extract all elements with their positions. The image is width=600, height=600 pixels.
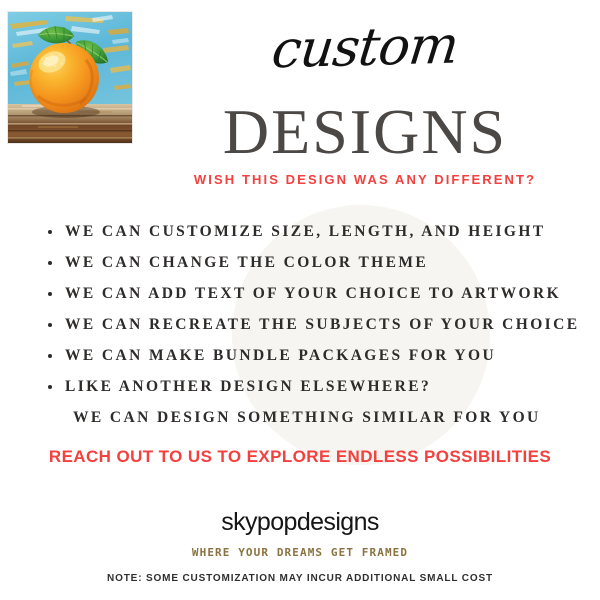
headline-question: WISH THIS DESIGN WAS ANY DIFFERENT?: [130, 173, 600, 186]
brand-name: skypopdesigns: [0, 510, 600, 535]
list-item: WE CAN CHANGE THE COLOR THEME: [46, 247, 576, 278]
list-item: LIKE ANOTHER DESIGN ELSEWHERE?: [46, 371, 576, 402]
artwork-thumbnail: [8, 12, 132, 143]
list-item: WE CAN MAKE BUNDLE PACKAGES FOR YOU: [46, 340, 576, 371]
list-item: WE CAN CUSTOMIZE SIZE, LENGTH, AND HEIGH…: [46, 216, 576, 247]
brand-tagline: WHERE YOUR DREAMS GET FRAMED: [0, 547, 600, 558]
list-item: WE CAN ADD TEXT OF YOUR CHOICE TO ARTWOR…: [46, 278, 576, 309]
orange-painting-icon: [8, 12, 132, 143]
script-headline: custom: [126, 16, 600, 80]
list-item: WE CAN RECREATE THE SUBJECTS OF YOUR CHO…: [46, 309, 576, 340]
call-to-action-text: REACH OUT TO US TO EXPLORE ENDLESS POSSI…: [0, 448, 600, 465]
list-item-continuation: WE CAN DESIGN SOMETHING SIMILAR FOR YOU: [46, 402, 576, 433]
customization-feature-list: WE CAN CUSTOMIZE SIZE, LENGTH, AND HEIGH…: [46, 216, 576, 433]
footnote-text: NOTE: SOME CUSTOMIZATION MAY INCUR ADDIT…: [0, 574, 600, 584]
page-title: DESIGNS: [130, 100, 600, 164]
